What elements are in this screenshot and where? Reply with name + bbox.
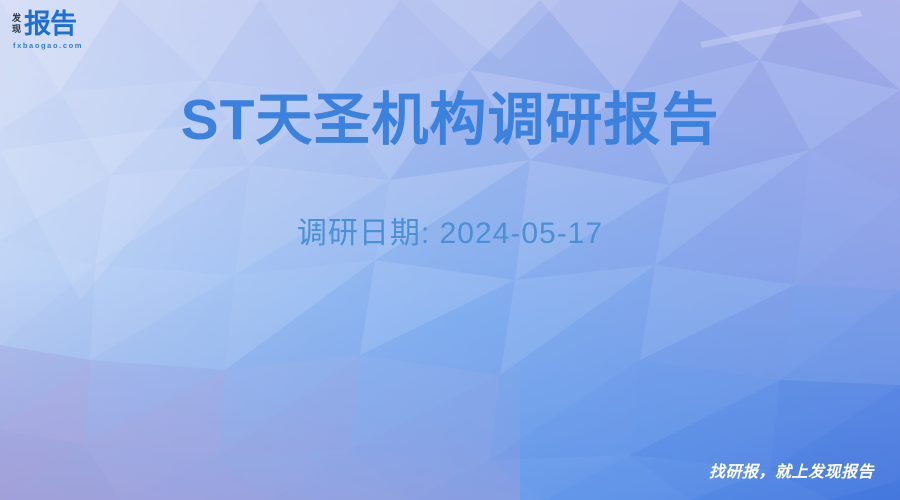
logo-mark-characters: 发 现: [12, 14, 21, 38]
title-block: ST天圣机构调研报告 调研日期: 2024-05-17: [0, 88, 900, 252]
survey-date-subtitle: 调研日期: 2024-05-17: [0, 208, 900, 252]
logo-mark-line2: 现: [12, 25, 21, 36]
page-title: ST天圣机构调研报告: [0, 88, 900, 154]
report-cover: 发 现 报告 fxbaogao.com ST天圣机构调研报告 调研日期: 202…: [0, 0, 900, 500]
brand-logo[interactable]: 发 现 报告 fxbaogao.com: [12, 8, 83, 50]
logo-wordmark: 报告: [24, 12, 76, 38]
logo-url: fxbaogao.com: [13, 41, 83, 50]
logo-row: 发 现 报告: [12, 8, 83, 38]
brand-tagline: 找研报，就上发现报告: [709, 458, 874, 482]
